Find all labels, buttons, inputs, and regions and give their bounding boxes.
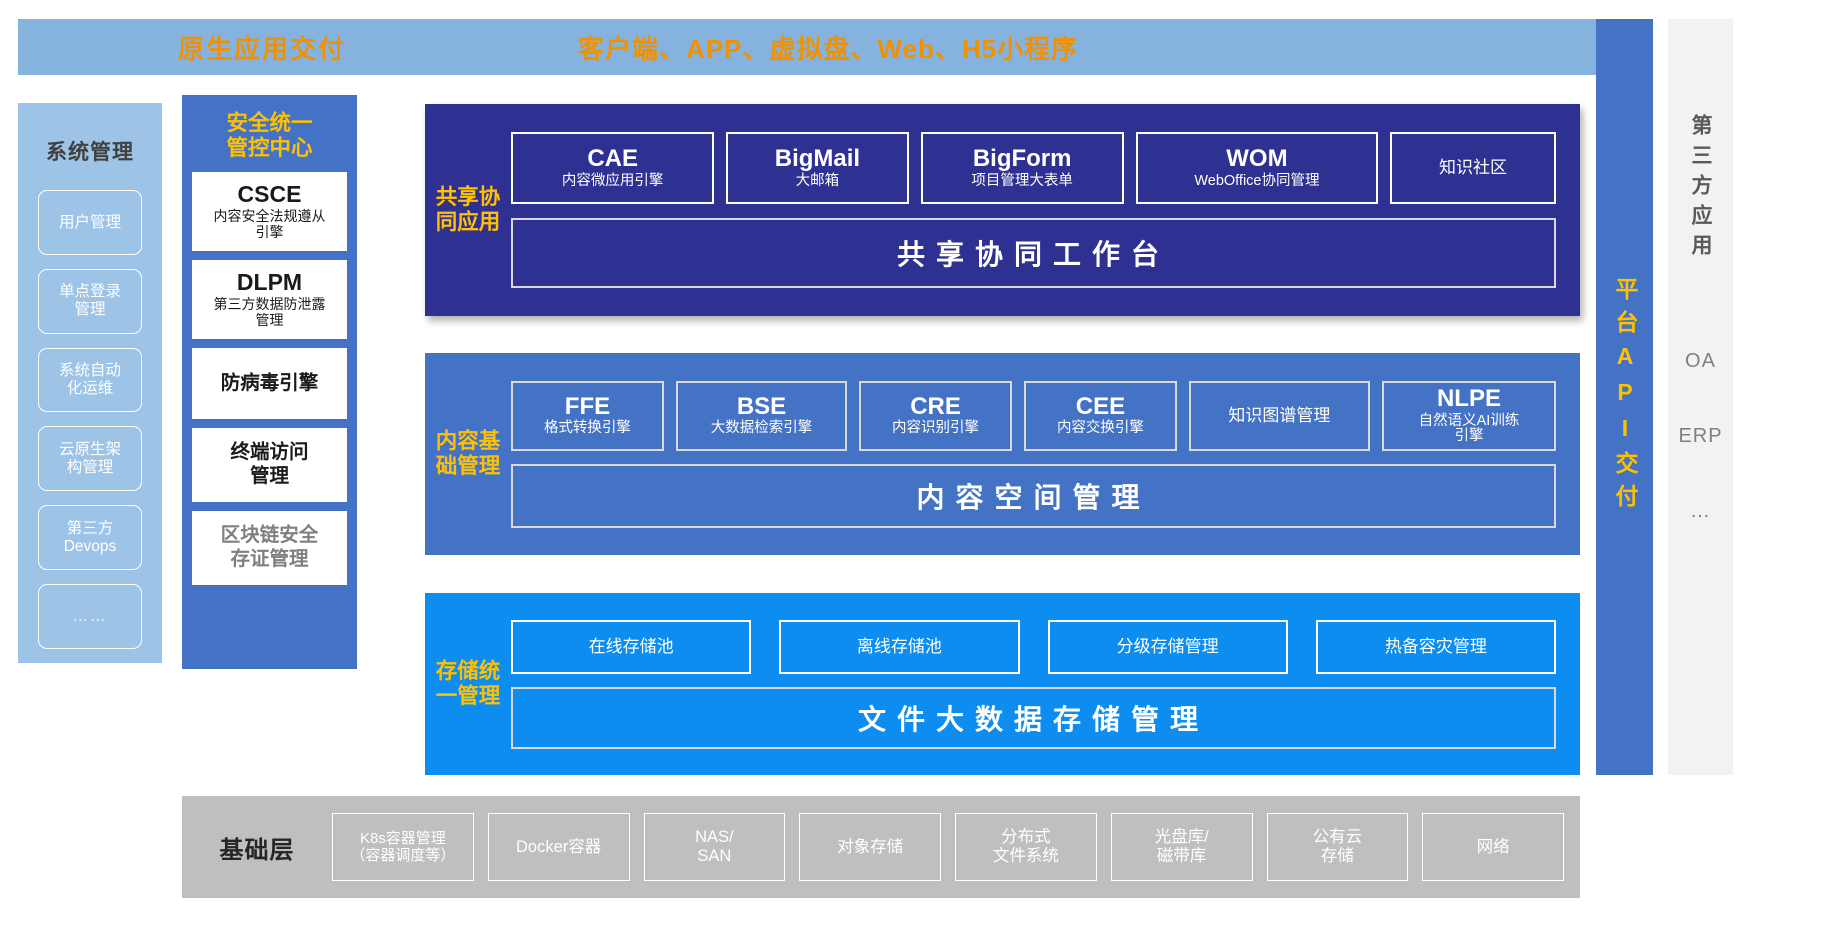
security-item-csce[interactable]: CSCE 内容安全法规遵从引擎 — [192, 172, 347, 251]
shared-collaboration-section: 共享协同应用 CAE 内容微应用引擎 BigMail 大邮箱 BigForm 项… — [425, 104, 1580, 316]
sidebar-item-label: …… — [73, 608, 108, 626]
chip-desc: 自然语义AI训练引擎 — [1419, 414, 1520, 446]
infrastructure-layer: 基础层 K8s容器管理（容器调度等） Docker容器 NAS/SAN 对象存储… — [182, 796, 1580, 898]
infra-box-label: 光盘库/磁带库 — [1155, 828, 1209, 866]
content-space-management-band[interactable]: 内容空间管理 — [511, 464, 1556, 528]
chip-desc: 项目管理大表单 — [971, 174, 1073, 190]
storage-management-section: 存储统一管理 在线存储池 离线存储池 分级存储管理 热备容灾管理 文件大数据存储… — [425, 593, 1580, 775]
chip-desc: 内容微应用引擎 — [562, 174, 664, 190]
content-management-label: 内容基础管理 — [425, 429, 511, 479]
system-management-column: 系统管理 用户管理 单点登录管理 系统自动化运维 云原生架构管理 第三方Devo… — [18, 103, 162, 663]
infra-box-nas-san[interactable]: NAS/SAN — [644, 813, 786, 881]
chip-desc: 大邮箱 — [796, 174, 840, 190]
chip-code: CAE — [587, 146, 638, 173]
file-bigdata-storage-band[interactable]: 文件大数据存储管理 — [511, 687, 1556, 749]
app-chip-knowledge-community[interactable]: 知识社区 — [1390, 132, 1556, 204]
sidebar-item-label: 云原生架构管理 — [59, 441, 121, 477]
chip-desc: 格式转换引擎 — [544, 421, 631, 437]
sidebar-item-automated-ops[interactable]: 系统自动化运维 — [38, 348, 142, 413]
app-chip-bigmail[interactable]: BigMail 大邮箱 — [726, 132, 908, 204]
infra-box-docker[interactable]: Docker容器 — [488, 813, 630, 881]
chip-label: 离线存储池 — [857, 637, 942, 657]
security-center-title: 安全统一管控中心 — [226, 111, 312, 162]
security-item-label: 终端访问管理 — [230, 441, 308, 488]
shared-collaboration-chip-row: CAE 内容微应用引擎 BigMail 大邮箱 BigForm 项目管理大表单 … — [511, 132, 1580, 204]
third-party-item-more[interactable]: … — [1690, 500, 1711, 523]
engine-chip-ffe[interactable]: FFE 格式转换引擎 — [511, 381, 664, 451]
app-chip-wom[interactable]: WOM WebOffice协同管理 — [1136, 132, 1378, 204]
chip-code: FFE — [565, 394, 610, 421]
chip-label: 知识图谱管理 — [1228, 406, 1330, 426]
infra-box-label: NAS/SAN — [695, 828, 734, 866]
chip-code: BigMail — [775, 146, 860, 173]
security-item-antivirus-engine[interactable]: 防病毒引擎 — [192, 348, 347, 419]
chip-code: CRE — [910, 394, 961, 421]
third-party-item-erp[interactable]: ERP — [1678, 425, 1722, 448]
sidebar-item-label: 系统自动化运维 — [59, 362, 121, 398]
engine-chip-knowledge-graph[interactable]: 知识图谱管理 — [1189, 381, 1370, 451]
infra-box-label: K8s容器管理（容器调度等） — [350, 830, 455, 865]
top-delivery-banner: 原生应用交付 客户端、APP、虚拟盘、Web、H5小程序 — [18, 19, 1598, 75]
sidebar-item-label: 第三方Devops — [64, 520, 117, 556]
infra-box-label: 公有云存储 — [1313, 828, 1363, 866]
architecture-diagram: 原生应用交付 客户端、APP、虚拟盘、Web、H5小程序 系统管理 用户管理 单… — [0, 0, 1823, 928]
app-chip-cae[interactable]: CAE 内容微应用引擎 — [511, 132, 714, 204]
storage-management-label: 存储统一管理 — [425, 659, 511, 709]
chip-label: 热备容灾管理 — [1385, 637, 1487, 657]
security-control-center-column: 安全统一管控中心 CSCE 内容安全法规遵从引擎 DLPM 第三方数据防泄露管理… — [182, 95, 357, 669]
sidebar-item-cloud-native-arch[interactable]: 云原生架构管理 — [38, 426, 142, 491]
chip-label: 知识社区 — [1439, 158, 1507, 178]
chip-code: BSE — [737, 394, 786, 421]
platform-api-column: 平台API交付 — [1596, 19, 1653, 775]
infra-box-label: Docker容器 — [516, 838, 601, 857]
security-item-code: DLPM — [237, 270, 302, 295]
content-management-chip-row: FFE 格式转换引擎 BSE 大数据检索引擎 CRE 内容识别引擎 CEE 内容… — [511, 381, 1580, 451]
chip-desc: 内容识别引擎 — [892, 421, 979, 437]
infra-box-object-storage[interactable]: 对象存储 — [799, 813, 941, 881]
security-item-label: 区块链安全存证管理 — [221, 524, 319, 571]
infra-box-network[interactable]: 网络 — [1422, 813, 1564, 881]
chip-desc: WebOffice协同管理 — [1194, 174, 1319, 190]
chip-code: WOM — [1226, 146, 1287, 173]
third-party-item-oa[interactable]: OA — [1685, 350, 1716, 373]
native-app-delivery-label: 原生应用交付 — [178, 29, 346, 66]
security-item-code: CSCE — [238, 182, 302, 207]
security-item-dlpm[interactable]: DLPM 第三方数据防泄露管理 — [192, 260, 347, 339]
system-management-title: 系统管理 — [46, 136, 134, 166]
storage-management-chip-row: 在线存储池 离线存储池 分级存储管理 热备容灾管理 — [511, 620, 1580, 674]
engine-chip-cee[interactable]: CEE 内容交换引擎 — [1024, 381, 1177, 451]
infra-box-public-cloud-storage[interactable]: 公有云存储 — [1267, 813, 1409, 881]
chip-code: BigForm — [973, 146, 1072, 173]
security-item-desc: 第三方数据防泄露管理 — [214, 296, 326, 328]
sidebar-item-label: 单点登录管理 — [59, 283, 121, 319]
engine-chip-cre[interactable]: CRE 内容识别引擎 — [859, 381, 1012, 451]
sidebar-item-sso-management[interactable]: 单点登录管理 — [38, 269, 142, 334]
security-item-blockchain-evidence[interactable]: 区块链安全存证管理 — [192, 511, 347, 585]
chip-desc: 内容交换引擎 — [1057, 421, 1144, 437]
sidebar-item-user-management[interactable]: 用户管理 — [38, 190, 142, 255]
infra-box-k8s[interactable]: K8s容器管理（容器调度等） — [332, 813, 474, 881]
security-item-label: 防病毒引擎 — [221, 372, 319, 395]
shared-collaboration-workbench-band[interactable]: 共享协同工作台 — [511, 218, 1556, 288]
engine-chip-nlpe[interactable]: NLPE 自然语义AI训练引擎 — [1382, 381, 1556, 451]
infra-box-label: 对象存储 — [837, 838, 903, 857]
platform-api-label: 平台API交付 — [1613, 277, 1636, 517]
engine-chip-bse[interactable]: BSE 大数据检索引擎 — [676, 381, 847, 451]
security-item-endpoint-access[interactable]: 终端访问管理 — [192, 428, 347, 502]
sidebar-item-label: 用户管理 — [59, 214, 121, 232]
chip-label: 在线存储池 — [589, 637, 674, 657]
chip-desc: 大数据检索引擎 — [711, 421, 813, 437]
shared-collaboration-label: 共享协同应用 — [425, 185, 511, 235]
client-channels-label: 客户端、APP、虚拟盘、Web、H5小程序 — [578, 29, 1078, 66]
storage-chip-hot-backup-dr[interactable]: 热备容灾管理 — [1316, 620, 1556, 674]
third-party-app-label: 第三方应用 — [1690, 114, 1711, 264]
chip-label: 分级存储管理 — [1117, 637, 1219, 657]
storage-chip-online-pool[interactable]: 在线存储池 — [511, 620, 751, 674]
sidebar-item-third-party-devops[interactable]: 第三方Devops — [38, 505, 142, 570]
storage-chip-offline-pool[interactable]: 离线存储池 — [779, 620, 1019, 674]
infra-box-distributed-fs[interactable]: 分布式文件系统 — [955, 813, 1097, 881]
storage-chip-tiered-storage[interactable]: 分级存储管理 — [1048, 620, 1288, 674]
chip-code: CEE — [1076, 394, 1125, 421]
app-chip-bigform[interactable]: BigForm 项目管理大表单 — [921, 132, 1124, 204]
chip-code: NLPE — [1437, 386, 1501, 413]
infrastructure-title: 基础层 — [182, 830, 332, 865]
infra-box-optical-tape-library[interactable]: 光盘库/磁带库 — [1111, 813, 1253, 881]
infra-box-label: 分布式文件系统 — [993, 828, 1059, 866]
security-item-desc: 内容安全法规遵从引擎 — [214, 208, 326, 240]
infra-box-label: 网络 — [1477, 838, 1510, 857]
third-party-app-column: 第三方应用 OA ERP … — [1668, 19, 1733, 775]
sidebar-item-more[interactable]: …… — [38, 584, 142, 649]
content-management-section: 内容基础管理 FFE 格式转换引擎 BSE 大数据检索引擎 CRE 内容识别引擎… — [425, 353, 1580, 555]
